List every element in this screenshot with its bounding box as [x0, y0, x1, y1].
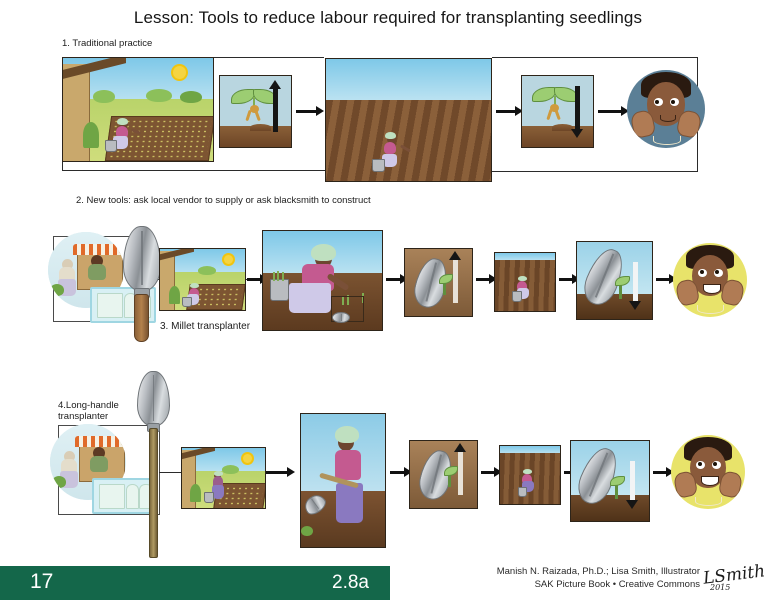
- panel-kneeling-transplant-scene: [262, 230, 383, 331]
- panel-nursery-bed-scene-small: [181, 447, 266, 509]
- panel-ploughed-field-scene-small: [494, 252, 556, 312]
- panel-seedling-uproot-closeup: [219, 75, 292, 148]
- flow-arrow: [653, 471, 667, 474]
- flow-arrow: [386, 278, 401, 281]
- panel-standing-transplant-scene: [300, 413, 386, 548]
- panel-tool-planting-seedling-closeup: [570, 440, 650, 522]
- picture-book-page: Lesson: Tools to reduce labour required …: [0, 0, 776, 600]
- panel-ploughed-field-scene: [325, 58, 492, 182]
- flow-arrow: [481, 471, 495, 474]
- panel-happy-face-open-hands: [673, 243, 747, 317]
- page-title: Lesson: Tools to reduce labour required …: [0, 8, 776, 28]
- panel-seedling-planting-closeup: [521, 75, 594, 148]
- caption-long-handle-transplanter: 4.Long-handle transplanter: [58, 400, 119, 422]
- credit-line-1: Manish N. Raizada, Ph.D.; Lisa Smith, Il…: [380, 566, 700, 579]
- section-label-traditional-practice: 1. Traditional practice: [62, 38, 152, 49]
- flow-arrow: [656, 278, 670, 281]
- section-label-new-tools: 2. New tools: ask local vendor to supply…: [76, 195, 371, 206]
- flow-arrow: [559, 278, 573, 281]
- panel-happy-face-open-hands: [671, 435, 745, 509]
- flow-arrow: [247, 278, 261, 281]
- flow-arrow: [390, 471, 405, 474]
- flow-arrow: [476, 278, 490, 281]
- panel-ploughed-field-scene-small: [499, 445, 561, 505]
- panel-tool-lifting-seedling-closeup: [404, 248, 473, 317]
- page-number: 17: [30, 570, 53, 594]
- flow-arrow: [296, 110, 317, 113]
- flow-arrow: [598, 110, 622, 113]
- illustrator-signature-year: 2015: [710, 583, 730, 592]
- connector-line: [492, 57, 698, 58]
- figure-code: 2.8a: [332, 572, 369, 594]
- panel-tool-lifting-seedling-closeup: [409, 440, 478, 509]
- caption-millet-transplanter: 3. Millet transplanter: [160, 321, 250, 332]
- panel-tool-planting-seedling-closeup: [576, 241, 653, 320]
- panel-nursery-bed-scene: [62, 57, 214, 162]
- credit-block: Manish N. Raizada, Ph.D.; Lisa Smith, Il…: [380, 566, 700, 591]
- flow-arrow: [496, 110, 516, 113]
- panel-nursery-bed-scene-small: [159, 248, 246, 311]
- credit-line-2: SAK Picture Book • Creative Commons: [380, 579, 700, 592]
- panel-sad-face-blistered-hands: [627, 70, 705, 148]
